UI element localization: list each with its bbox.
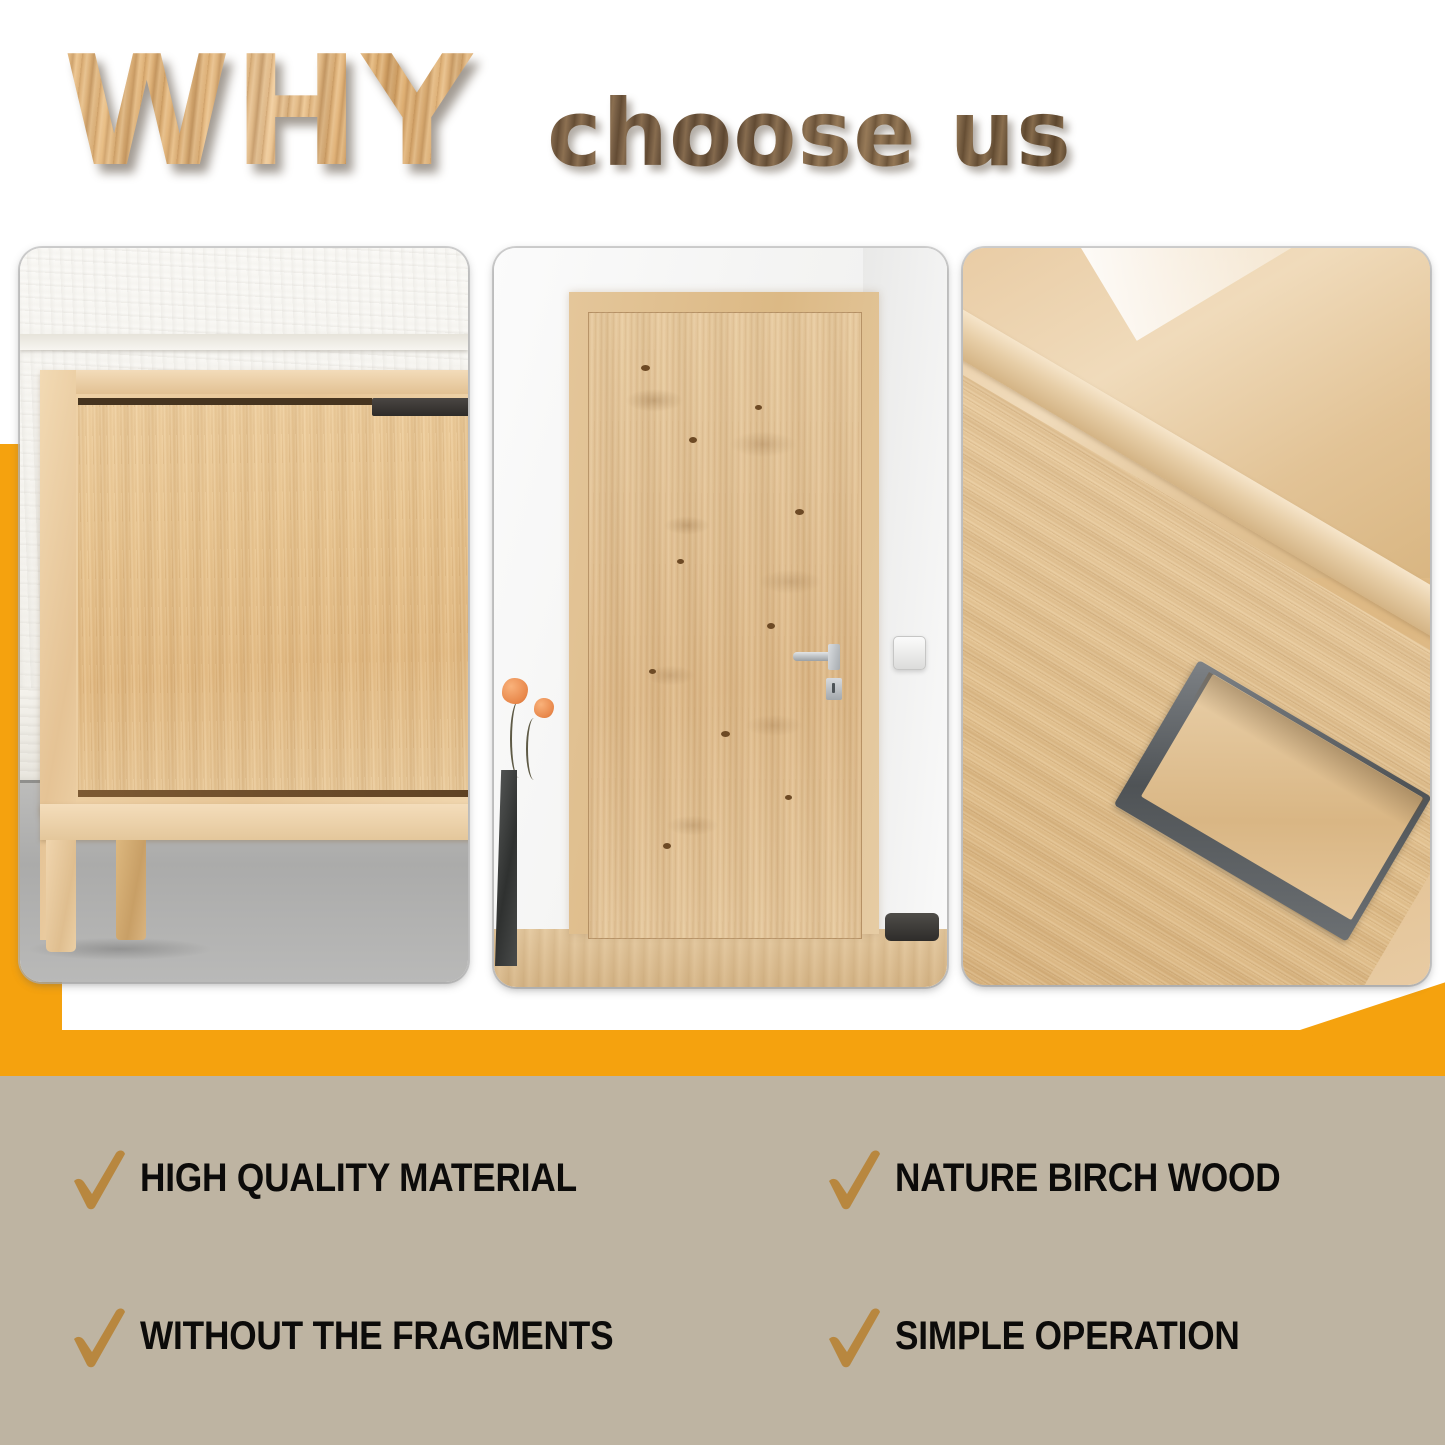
door-mat bbox=[885, 913, 939, 941]
cabinet-leg-right bbox=[116, 840, 146, 940]
cabinet-lower-seam bbox=[78, 790, 468, 797]
check-icon bbox=[70, 1303, 128, 1369]
check-icon bbox=[825, 1303, 883, 1369]
feature-label: WITHOUT THE FRAGMENTS bbox=[140, 1314, 613, 1358]
wood-knot-icon bbox=[785, 795, 792, 800]
cabinet-apron bbox=[40, 804, 468, 840]
cabinet-bar-handle bbox=[372, 398, 468, 416]
poppy-flower bbox=[502, 678, 528, 704]
check-icon bbox=[70, 1145, 128, 1211]
oak-door-leaf bbox=[588, 312, 862, 939]
door-handle-rose bbox=[828, 644, 840, 670]
wood-knot-icon bbox=[663, 843, 671, 849]
cabinet-door-panel bbox=[78, 400, 468, 794]
cabinet-leg-left bbox=[46, 840, 76, 952]
keyhole-icon bbox=[832, 683, 835, 693]
light-switch[interactable] bbox=[893, 636, 926, 670]
features-grid: HIGH QUALITY MATERIAL NATURE BIRCH WOOD … bbox=[0, 0, 1445, 369]
feature-item: NATURE BIRCH WOOD bbox=[825, 1145, 1333, 1211]
wood-knot-icon bbox=[649, 669, 656, 674]
check-icon bbox=[825, 1145, 883, 1211]
cabinet-top-panel bbox=[40, 370, 468, 394]
wood-knot-icon bbox=[721, 731, 730, 737]
feature-item: SIMPLE OPERATION bbox=[825, 1303, 1287, 1369]
cabinet-door-gap bbox=[78, 398, 372, 405]
wood-knot-icon bbox=[755, 405, 762, 410]
feature-label: HIGH QUALITY MATERIAL bbox=[140, 1156, 577, 1200]
flower-stem bbox=[510, 700, 528, 778]
poppy-flower bbox=[534, 698, 554, 718]
wood-knot-icon bbox=[689, 437, 697, 443]
wood-knot-icon bbox=[795, 509, 804, 515]
why-choose-us-infographic: WHY choose us bbox=[0, 0, 1445, 1445]
wood-knot-icon bbox=[677, 559, 684, 564]
feature-item: WITHOUT THE FRAGMENTS bbox=[70, 1303, 678, 1369]
feature-label: NATURE BIRCH WOOD bbox=[895, 1156, 1280, 1200]
feature-label: SIMPLE OPERATION bbox=[895, 1314, 1240, 1358]
flower-stem bbox=[526, 718, 542, 780]
wood-knot-icon bbox=[767, 623, 775, 629]
features-section bbox=[0, 1076, 1445, 1445]
feature-item: HIGH QUALITY MATERIAL bbox=[70, 1145, 637, 1211]
